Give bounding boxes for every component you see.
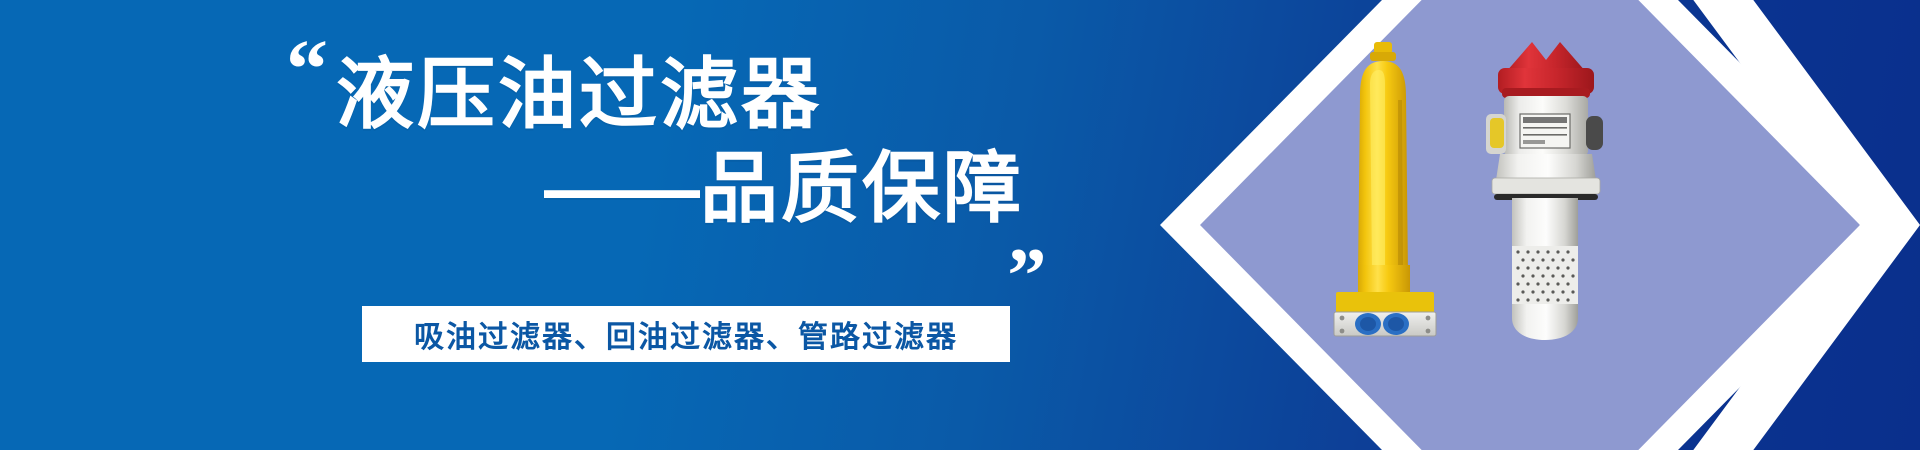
subtitle-box: 吸油过滤器、回油过滤器、管路过滤器 (362, 306, 1010, 362)
headline-line-2-text: 品质保障 (700, 146, 1024, 230)
subtitle-text: 吸油过滤器、回油过滤器、管路过滤器 (414, 312, 958, 356)
closing-quote-mark: „ (1008, 196, 1043, 274)
promo-banner: “ 液压油过滤器 ——品质保障 „ 吸油过滤器、回油过滤器、管路过滤器 (0, 0, 1920, 450)
headline-line-1: 液压油过滤器 (330, 52, 1030, 136)
headline-em-dash: —— (544, 146, 700, 230)
product-images (1290, 0, 1920, 450)
headline-line-2: ——品质保障 (330, 146, 1030, 230)
opening-quote-mark: “ (286, 28, 324, 112)
product-yellow-suction-filter (1290, 40, 1480, 340)
banner-copy: “ 液压油过滤器 ——品质保障 „ 吸油过滤器、回油过滤器、管路过滤器 (0, 0, 1080, 450)
headline: 液压油过滤器 ——品质保障 (330, 52, 1030, 230)
product-return-line-filter (1460, 18, 1690, 348)
